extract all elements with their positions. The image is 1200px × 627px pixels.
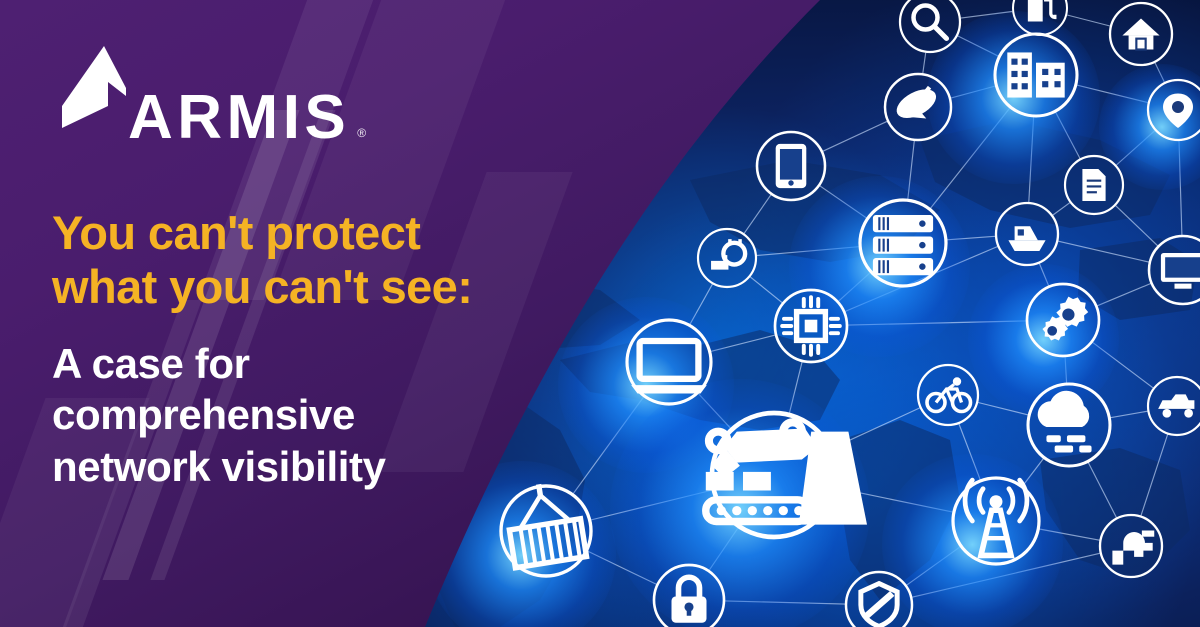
plug-icon (711, 239, 745, 269)
network-node-faucet-icon (1100, 515, 1162, 577)
network-node-cloud-icon (1028, 384, 1110, 466)
banner-copy: You can't protect what you can't see: A … (52, 206, 572, 492)
network-node-monitor-icon (1149, 236, 1200, 304)
subheadline-line-2: comprehensive (52, 389, 572, 440)
microchip-icon (782, 297, 840, 355)
headline-line-2: what you can't see: (52, 260, 572, 314)
network-node-microchip-icon (775, 290, 847, 362)
network-node-car-icon (1148, 377, 1200, 435)
search-icon (914, 6, 947, 39)
location-pin-icon (1163, 94, 1193, 129)
subheadline-line-1: A case for (52, 338, 572, 389)
faucet-icon (1112, 531, 1154, 565)
server-rack-icon (873, 215, 933, 275)
tablet-icon (776, 144, 807, 188)
registered-trademark-symbol: ® (357, 127, 366, 139)
network-node-boat-icon (996, 203, 1058, 265)
shipping-container-icon (503, 479, 586, 568)
network-node-laptop-icon (627, 320, 711, 404)
satellite-dish-icon (892, 83, 941, 124)
network-node-bicycle-icon (918, 365, 978, 425)
armis-wordmark: ARMIS (128, 92, 350, 144)
subheadline: A case for comprehensive network visibil… (52, 338, 572, 492)
house-icon (1122, 19, 1159, 50)
network-node-fuel-pump-icon (1013, 0, 1067, 35)
laptop-icon (631, 341, 707, 394)
cloud-icon (1038, 391, 1092, 453)
building-icon (1007, 52, 1064, 97)
network-node-shield-icon (846, 572, 912, 627)
armis-chevron-mark-icon (60, 44, 126, 144)
car-icon (1158, 394, 1194, 417)
network-node-plug-icon (698, 229, 756, 287)
fuel-pump-icon (1028, 0, 1055, 22)
gears-icon (1042, 297, 1088, 341)
armis-promo-banner: ARMIS ® You can't protect what you can't… (0, 0, 1200, 627)
network-node-house-icon (1110, 3, 1172, 65)
network-node-search-icon (900, 0, 960, 52)
network-node-antenna-tower-icon (953, 478, 1039, 564)
network-node-document-icon (1065, 156, 1123, 214)
document-icon (1082, 169, 1105, 201)
bicycle-icon (927, 377, 971, 411)
antenna-tower-icon (965, 480, 1027, 555)
network-node-shipping-container-icon (501, 479, 591, 576)
network-node-gears-icon (1027, 284, 1099, 356)
boat-icon (1008, 226, 1045, 251)
headline: You can't protect what you can't see: (52, 206, 572, 314)
padlock-icon (672, 577, 707, 623)
armis-logo[interactable]: ARMIS ® (60, 44, 366, 144)
robot-arm-icon (706, 422, 867, 524)
node-ring (846, 572, 912, 627)
network-node-tablet-icon (757, 132, 825, 200)
network-node-location-pin-icon (1148, 80, 1200, 140)
subheadline-line-3: network visibility (52, 441, 572, 492)
network-node-padlock-icon (654, 565, 724, 627)
network-node-building-icon (995, 34, 1077, 116)
network-node-server-rack-icon (860, 200, 946, 286)
network-node-satellite-dish-icon (885, 74, 951, 140)
network-node-robot-arm-icon (706, 413, 867, 537)
headline-line-1: You can't protect (52, 206, 572, 260)
shield-icon (861, 584, 897, 627)
monitor-icon (1161, 253, 1200, 289)
